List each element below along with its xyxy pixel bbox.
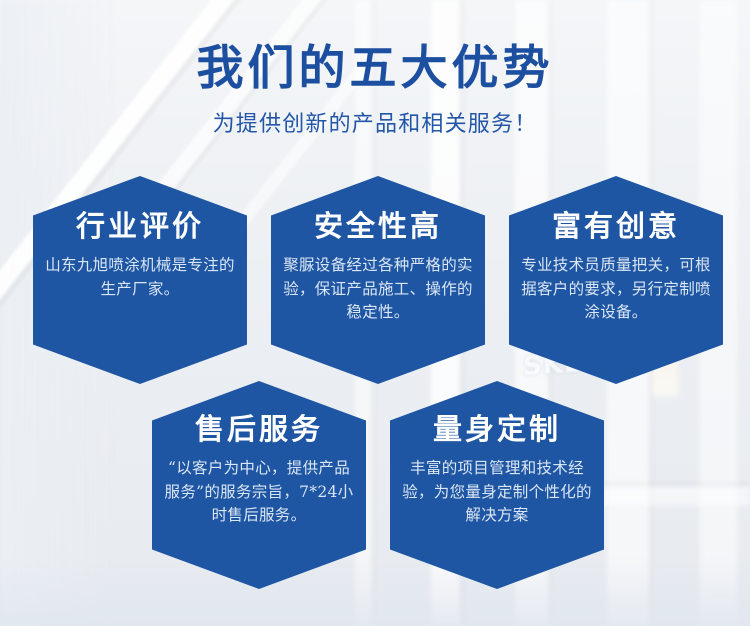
heading-block: 我们的五大优势 为提供创新的产品和相关服务！: [0, 0, 750, 138]
promo-banner: SKL 我们的五大优势 为提供创新的产品和相关服务！ 行业评价 山东九旭喷涂机械…: [0, 0, 750, 626]
advantage-hexagon-rich-creativity[interactable]: 富有创意 专业技术员质量把关，可根据客户的要求，另行定制喷涂设备。: [509, 176, 723, 384]
background-bottom-shade: [0, 556, 750, 626]
page-subtitle: 为提供创新的产品和相关服务！: [0, 106, 750, 138]
advantage-body: 丰富的项目管理和技术经验，为您量身定制个性化的解决方案: [401, 457, 593, 528]
advantage-title: 量身定制: [433, 415, 561, 444]
advantage-hexagon-tailored-customization[interactable]: 量身定制 丰富的项目管理和技术经验，为您量身定制个性化的解决方案: [390, 381, 604, 589]
advantage-body: “以客户为中心，提供产品服务”的服务宗旨，7*24小时售后服务。: [163, 457, 355, 528]
advantage-title: 富有创意: [552, 212, 680, 241]
advantage-body: 山东九旭喷涂机械是专注的生产厂家。: [44, 254, 236, 301]
advantage-title: 售后服务: [195, 415, 323, 444]
advantage-hexagon-after-sales-service[interactable]: 售后服务 “以客户为中心，提供产品服务”的服务宗旨，7*24小时售后服务。: [152, 381, 366, 589]
advantage-title: 安全性高: [314, 212, 442, 241]
page-title: 我们的五大优势: [0, 44, 750, 93]
advantage-body: 专业技术员质量把关，可根据客户的要求，另行定制喷涂设备。: [520, 254, 712, 325]
advantage-hexagon-high-safety[interactable]: 安全性高 聚脲设备经过各种严格的实验，保证产品施工、操作的稳定性。: [271, 176, 485, 384]
advantage-body: 聚脲设备经过各种严格的实验，保证产品施工、操作的稳定性。: [282, 254, 474, 325]
advantage-title: 行业评价: [76, 212, 204, 241]
advantage-hexagon-industry-reputation[interactable]: 行业评价 山东九旭喷涂机械是专注的生产厂家。: [33, 176, 247, 384]
